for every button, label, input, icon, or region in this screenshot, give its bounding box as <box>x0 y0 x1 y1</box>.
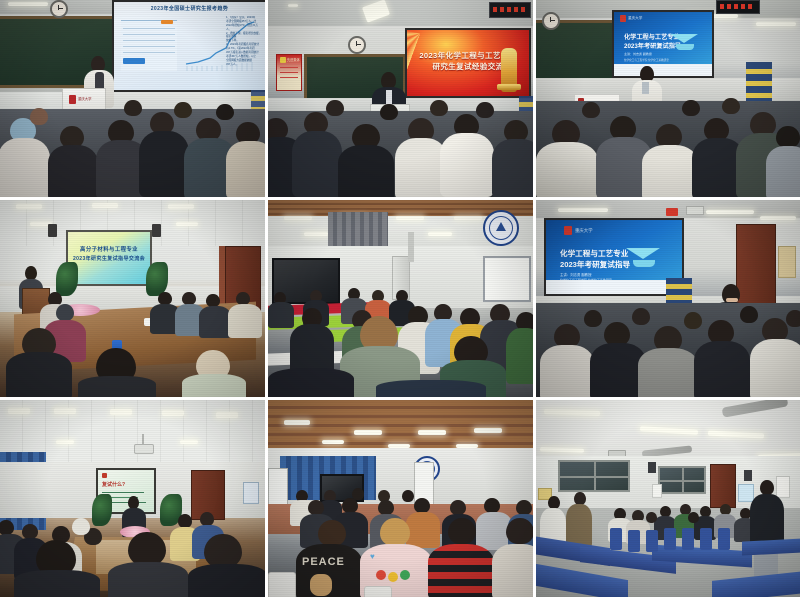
projection-screen: 2023年化学工程与工艺专业 研究生复试经验交流 <box>405 28 531 98</box>
slide-logo-label: 重庆大学 <box>575 228 593 234</box>
projection-screen: 重庆大学 化学工程与工艺专业 2023年考研复试指导 主讲：刘志勇 副教授 化学… <box>612 10 714 78</box>
podium-label: 重庆大学 <box>78 96 92 101</box>
slide-body-text: 1、《国家》显示，2023年 考研全国网报457万人，比 2022年增幅17%，… <box>226 16 262 86</box>
slide-line1: 复试什么? <box>102 481 125 488</box>
led-display <box>489 2 531 18</box>
window <box>558 460 630 492</box>
wall-poster: 先进集体 <box>276 54 302 91</box>
photo-collage: 2023年全国硕士研究生报考趋势 <box>0 0 800 597</box>
potted-plant <box>56 262 78 296</box>
potted-plant <box>92 494 112 526</box>
slide-line1: 高分子材料与工程专业 <box>68 247 150 254</box>
photo-panel-4[interactable]: 高分子材料与工程专业 2023年研究生复试指导交流会 <box>0 200 265 397</box>
ceiling-projector <box>134 444 154 454</box>
photo-panel-5[interactable] <box>268 200 533 397</box>
photo-panel-3[interactable]: 重庆大学 化学工程与工艺专业 2023年考研复试指导 主讲：刘志勇 副教授 化学… <box>536 0 800 197</box>
window <box>658 466 706 494</box>
slide-line2: 2023年考研复试指导 <box>560 259 630 270</box>
projection-screen: 高分子材料与工程专业 2023年研究生复试指导交流会 <box>66 230 152 286</box>
graduation-cap-icon <box>670 34 698 43</box>
slide-subline: 主讲：刘志勇 副教授 <box>624 52 652 56</box>
graduation-cap-icon <box>626 248 660 259</box>
projection-screen: 重庆大学 化学工程与工艺专业 2023年考研复试指导 主讲：刘志勇 副教授 化学… <box>544 218 684 296</box>
red-door <box>710 464 736 508</box>
wall-clock-icon <box>50 0 68 18</box>
photo-panel-9[interactable] <box>536 400 800 597</box>
slide-footline: 化学化工与工程学院 化学化工系教研室 <box>624 58 669 62</box>
photo-panel-1[interactable]: 2023年全国硕士研究生报考趋势 <box>0 0 265 197</box>
poster-label: 先进集体 <box>287 57 300 62</box>
wall-clock-icon <box>348 36 366 54</box>
projection-screen: 2023年全国硕士研究生报考趋势 <box>112 0 265 92</box>
slide-subline: 主讲：刘志勇 副教授 <box>560 272 591 277</box>
photo-panel-2[interactable]: 先进集体 2023年化学工程与工艺专业 研究生复试经验交流 <box>268 0 533 197</box>
university-emblem-icon <box>483 210 519 246</box>
photo-panel-7[interactable]: 复试什么? <box>0 400 265 597</box>
led-display <box>716 0 760 14</box>
jacket-label: PEACE <box>302 556 345 568</box>
wall-clock-icon <box>542 12 560 30</box>
slide-title: 2023年全国硕士研究生报考趋势 <box>114 6 265 12</box>
photo-panel-8[interactable]: PEACE ♥ <box>268 400 533 597</box>
photo-panel-6[interactable]: 重庆大学 化学工程与工艺专业 2023年考研复试指导 主讲：刘志勇 副教授 化学… <box>536 200 800 397</box>
potted-plant <box>146 262 168 296</box>
emergency-light <box>666 208 678 216</box>
slide-line2: 2023年研究生复试指导交流会 <box>68 256 150 262</box>
jacket-peace: PEACE <box>296 544 362 597</box>
slide-line1: 化学工程与工艺专业 <box>560 248 628 259</box>
slide-logo-label: 重庆大学 <box>628 16 642 21</box>
